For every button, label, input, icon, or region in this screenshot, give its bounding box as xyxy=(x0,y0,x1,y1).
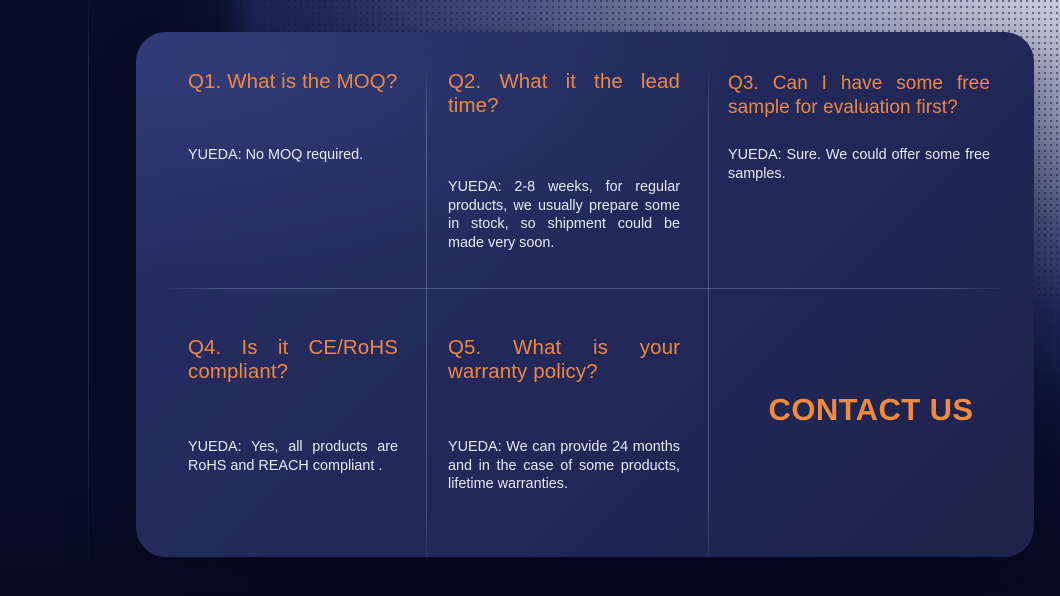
faq-cell-q4: Q4. Is it CE/RoHS compliant? YUEDA: Yes,… xyxy=(136,288,426,557)
faq-question-q3: Q3. Can I have some free sample for eval… xyxy=(728,72,990,120)
faq-cell-contact: CONTACT US xyxy=(708,288,1034,557)
faq-answer-q4: YUEDA: Yes, all products are RoHS and RE… xyxy=(188,438,398,475)
faq-question-q5: Q5. What is your warranty policy? xyxy=(448,336,680,384)
grid-divider-horizontal xyxy=(162,288,1008,289)
faq-grid: Q1. What is the MOQ? YUEDA: No MOQ requi… xyxy=(136,32,1034,557)
grid-divider-vertical-1 xyxy=(426,70,427,557)
grid-divider-vertical-2 xyxy=(708,70,709,557)
faq-cell-q3: Q3. Can I have some free sample for eval… xyxy=(708,32,1034,288)
faq-cell-q5: Q5. What is your warranty policy? YUEDA:… xyxy=(426,288,708,557)
faq-cell-q2: Q2. What it the lead time? YUEDA: 2-8 we… xyxy=(426,32,708,288)
faq-answer-q5: YUEDA: We can provide 24 months and in t… xyxy=(448,438,680,494)
faq-card: Q1. What is the MOQ? YUEDA: No MOQ requi… xyxy=(136,32,1034,557)
faq-answer-q3: YUEDA: Sure. We could offer some free sa… xyxy=(728,146,990,183)
faq-answer-q1: YUEDA: No MOQ required. xyxy=(188,146,398,165)
faq-cell-q1: Q1. What is the MOQ? YUEDA: No MOQ requi… xyxy=(136,32,426,288)
contact-us-heading: CONTACT US xyxy=(708,288,1034,557)
faq-question-q1: Q1. What is the MOQ? xyxy=(188,70,398,94)
faq-question-q2: Q2. What it the lead time? xyxy=(448,70,680,118)
faq-answer-q2: YUEDA: 2-8 weeks, for regular products, … xyxy=(448,178,680,252)
faq-question-q4: Q4. Is it CE/RoHS compliant? xyxy=(188,336,398,384)
